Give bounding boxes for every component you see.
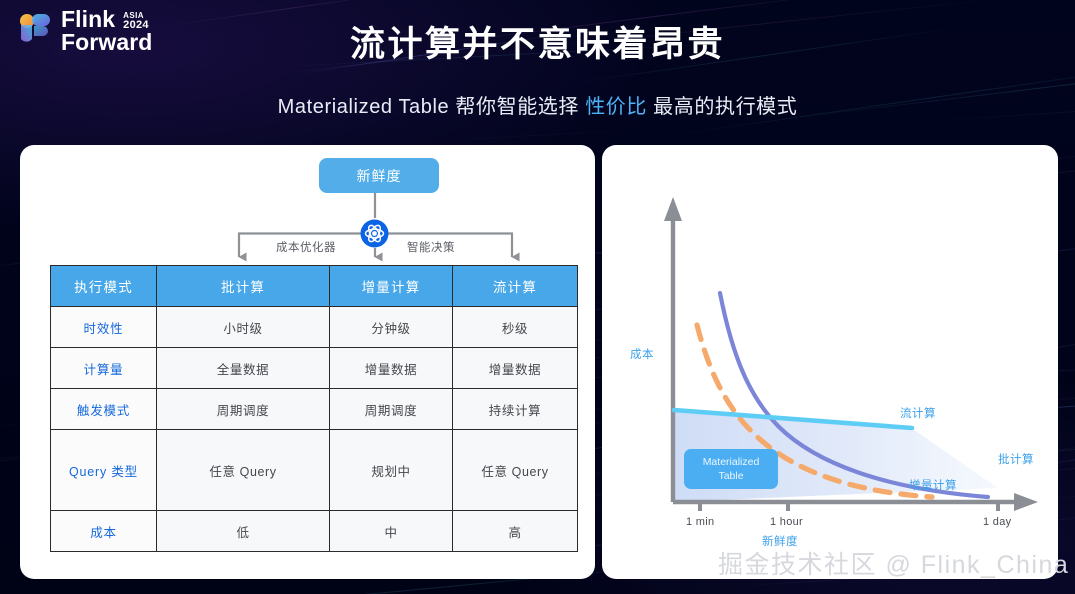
table-row-label-0: 时效性 bbox=[51, 307, 157, 348]
table-cell-4-1: 中 bbox=[330, 511, 453, 552]
cost-vs-freshness-chart: 成本 新鲜度 1 min 1 hour 1 day 流计算 批计算 增量计算 M… bbox=[602, 145, 1058, 579]
page-title: 流计算并不意味着昂贵 bbox=[0, 16, 1075, 67]
materialized-table-badge-line1: Materialized bbox=[703, 455, 760, 469]
series-label-incremental: 增量计算 bbox=[909, 477, 957, 493]
table-cell-3-0: 任意 Query bbox=[157, 430, 330, 511]
table-cell-1-2: 增量数据 bbox=[453, 348, 578, 389]
cost-freshness-chart-panel: 成本 新鲜度 1 min 1 hour 1 day 流计算 批计算 增量计算 M… bbox=[602, 145, 1058, 579]
atom-decision-icon bbox=[360, 219, 389, 248]
table-cell-2-1: 周期调度 bbox=[330, 389, 453, 430]
table-header: 执行模式批计算增量计算流计算 bbox=[51, 266, 578, 307]
table-row-label-3: Query 类型 bbox=[51, 430, 157, 511]
table-row: Query 类型任意 Query规划中任意 Query bbox=[51, 430, 578, 511]
table-cell-4-2: 高 bbox=[453, 511, 578, 552]
table-cell-0-1: 分钟级 bbox=[330, 307, 453, 348]
table-cell-3-1: 规划中 bbox=[330, 430, 453, 511]
table-row: 计算量全量数据增量数据增量数据 bbox=[51, 348, 578, 389]
table-header-cell-3: 流计算 bbox=[453, 266, 578, 307]
x-tick-label-1day: 1 day bbox=[983, 516, 1011, 528]
table-cell-0-0: 小时级 bbox=[157, 307, 330, 348]
table-cell-0-2: 秒级 bbox=[453, 307, 578, 348]
table-cell-2-0: 周期调度 bbox=[157, 389, 330, 430]
y-axis-arrow bbox=[664, 197, 682, 221]
watermark: 掘金技术社区 @ Flink_China bbox=[718, 545, 1069, 581]
table-body: 时效性小时级分钟级秒级计算量全量数据增量数据增量数据触发模式周期调度周期调度持续… bbox=[51, 307, 578, 552]
materialized-table-badge-line2: Table bbox=[718, 469, 743, 483]
subtitle-highlight: 性价比 bbox=[585, 96, 647, 118]
table-cell-4-0: 低 bbox=[157, 511, 330, 552]
series-label-streaming: 流计算 bbox=[900, 405, 936, 421]
x-tick-label-1hour: 1 hour bbox=[770, 516, 803, 528]
execution-mode-table: 执行模式批计算增量计算流计算 时效性小时级分钟级秒级计算量全量数据增量数据增量数… bbox=[50, 265, 578, 552]
table-header-cell-0: 执行模式 bbox=[51, 266, 157, 307]
table-row: 触发模式周期调度周期调度持续计算 bbox=[51, 389, 578, 430]
chart-canvas bbox=[602, 145, 1058, 579]
flow-diagram: 新鲜度 成本优化器 智能决策 bbox=[20, 145, 595, 265]
table-row-label-4: 成本 bbox=[51, 511, 157, 552]
table-row-label-2: 触发模式 bbox=[51, 389, 157, 430]
table-row: 时效性小时级分钟级秒级 bbox=[51, 307, 578, 348]
materialized-table-badge[interactable]: Materialized Table bbox=[684, 449, 778, 489]
subtitle-after: 最高的执行模式 bbox=[653, 96, 797, 118]
table-row-label-1: 计算量 bbox=[51, 348, 157, 389]
table-header-cell-2: 增量计算 bbox=[330, 266, 453, 307]
slide-root: Flink ASIA 2024 Forward 流计算并不意味着昂贵 Mater… bbox=[0, 0, 1075, 594]
y-axis-label: 成本 bbox=[630, 346, 654, 362]
series-label-batch: 批计算 bbox=[998, 451, 1034, 467]
table-header-cell-1: 批计算 bbox=[157, 266, 330, 307]
freshness-box[interactable]: 新鲜度 bbox=[319, 158, 439, 193]
decision-table-panel: 新鲜度 成本优化器 智能决策 执行模式批计算增量计算流计算 时效性小时级分钟级秒… bbox=[20, 145, 595, 579]
table-row: 成本低中高 bbox=[51, 511, 578, 552]
x-tick-label-1min: 1 min bbox=[686, 516, 714, 528]
flow-label-smart-decision: 智能决策 bbox=[407, 239, 455, 255]
page-subtitle: Materialized Table 帮你智能选择 性价比 最高的执行模式 bbox=[0, 90, 1075, 119]
table-cell-1-0: 全量数据 bbox=[157, 348, 330, 389]
x-axis-arrow bbox=[1014, 493, 1038, 511]
table-cell-1-1: 增量数据 bbox=[330, 348, 453, 389]
table-header-row: 执行模式批计算增量计算流计算 bbox=[51, 266, 578, 307]
table-cell-3-2: 任意 Query bbox=[453, 430, 578, 511]
flow-label-cost-optimizer: 成本优化器 bbox=[276, 239, 336, 255]
subtitle-before: Materialized Table 帮你智能选择 bbox=[278, 96, 579, 118]
table-cell-2-2: 持续计算 bbox=[453, 389, 578, 430]
